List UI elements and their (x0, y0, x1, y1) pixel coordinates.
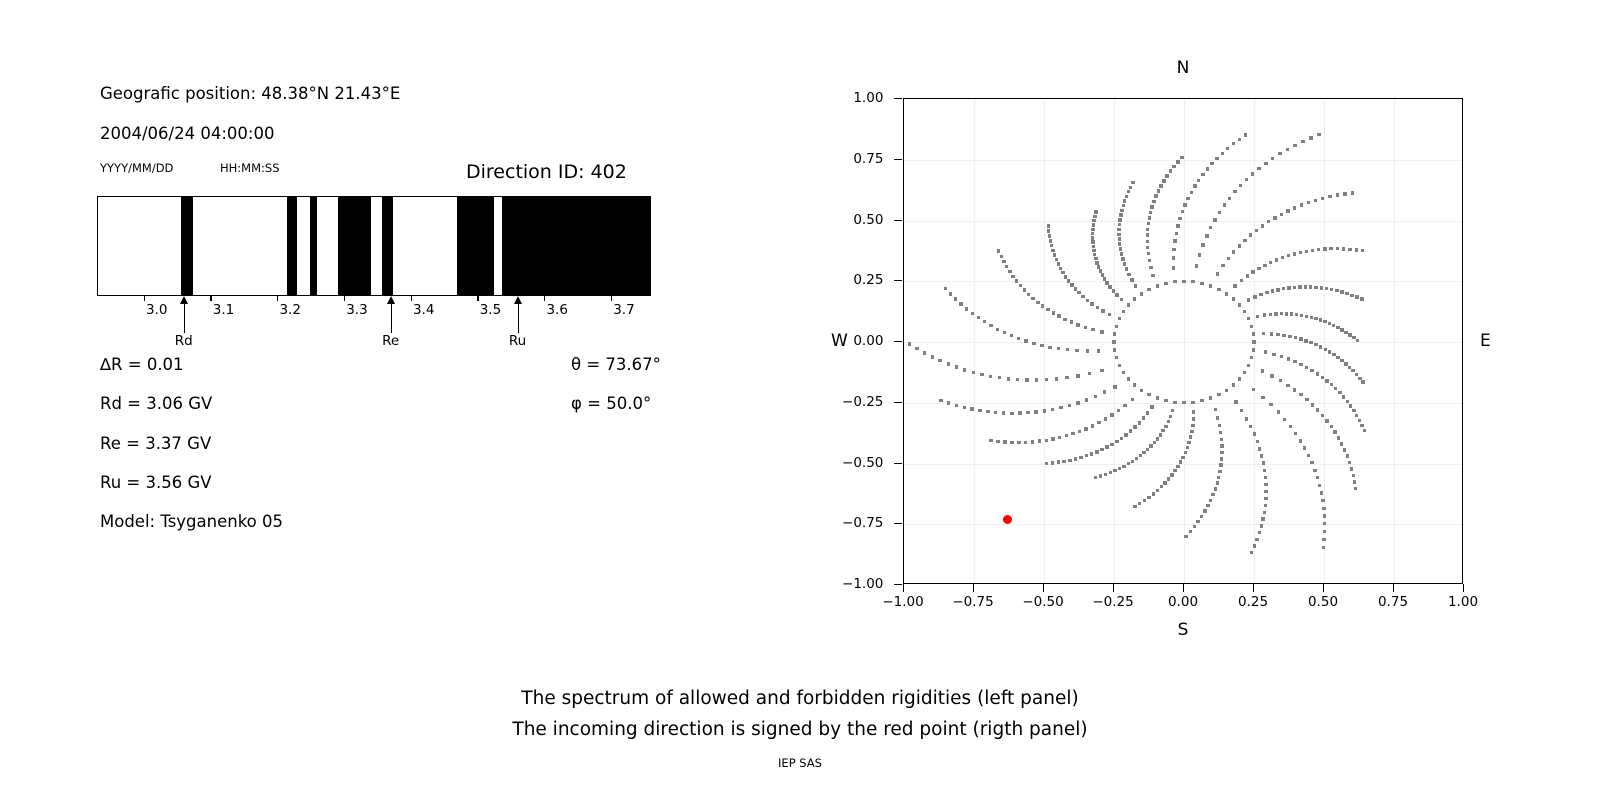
ray-point (1244, 133, 1247, 136)
ray-point (1314, 317, 1317, 320)
ray-point (970, 407, 973, 410)
inner-ring-point (1115, 325, 1118, 328)
ray-point (1209, 284, 1212, 287)
ray-point (1173, 401, 1176, 404)
ray-point (1115, 440, 1118, 443)
y-axis-tick-label: −1.00 (842, 576, 883, 592)
rigidity-spectrum-chart (97, 196, 651, 296)
ray-point (1121, 257, 1124, 260)
ray-point (908, 342, 911, 345)
ray-point (1104, 417, 1107, 420)
ray-point (1100, 448, 1103, 451)
ray-point (1294, 432, 1297, 435)
ray-point (1003, 440, 1006, 443)
ray-point (1352, 474, 1355, 477)
ray-point (1209, 499, 1212, 502)
ray-point (1074, 287, 1077, 290)
inner-ring-point (1252, 340, 1255, 343)
ray-point (1075, 349, 1078, 352)
ray-point (1189, 530, 1192, 533)
ray-point (1247, 298, 1250, 301)
ray-point (1270, 374, 1273, 377)
gridline-vertical (1184, 99, 1185, 583)
ray-point (1301, 140, 1304, 143)
ray-point (1233, 190, 1236, 193)
ray-point (1264, 497, 1267, 500)
ray-point (1064, 275, 1067, 278)
ray-point (1048, 346, 1051, 349)
inner-ring-point (1133, 297, 1136, 300)
y-axis-tick-label: −0.75 (842, 515, 883, 531)
ray-point (1096, 306, 1099, 309)
ray-point (1097, 349, 1100, 352)
ray-point (1299, 363, 1302, 366)
param-rd: Rd = 3.06 GV (100, 394, 212, 413)
ray-point (1354, 487, 1357, 490)
ray-point (1091, 236, 1094, 239)
ray-point (1173, 239, 1176, 242)
ray-point (971, 312, 974, 315)
ray-point (1300, 203, 1303, 206)
ray-point (938, 359, 941, 362)
ray-point (1249, 233, 1252, 236)
ray-point (963, 368, 966, 371)
arrow-up-icon (514, 296, 522, 304)
ray-point (1289, 425, 1292, 428)
footer-attribution: IEP SAS (0, 756, 1600, 770)
ray-point (1052, 311, 1055, 314)
ray-point (1350, 467, 1353, 470)
ray-point (1247, 317, 1250, 320)
ray-point (1216, 416, 1219, 419)
ray-point (1345, 292, 1348, 295)
ray-point (1057, 460, 1060, 463)
ray-point (1091, 232, 1094, 235)
ray-point (1050, 244, 1053, 247)
ray-point (1146, 448, 1149, 451)
ray-point (1092, 249, 1095, 252)
ray-point (1346, 454, 1349, 457)
ray-point (1283, 418, 1286, 421)
ray-point (1214, 408, 1217, 411)
ray-point (1036, 301, 1039, 304)
ray-point (1148, 259, 1151, 262)
ray-point (980, 373, 983, 376)
ray-point (1010, 334, 1013, 337)
ray-point (1269, 313, 1272, 316)
ray-point (1011, 275, 1014, 278)
inner-ring-point (1200, 282, 1203, 285)
ray-point (1146, 411, 1149, 414)
ray-point (1258, 447, 1261, 450)
ray-point (955, 365, 958, 368)
ray-point (1324, 348, 1327, 351)
ray-point (1110, 443, 1113, 446)
ray-point (1176, 465, 1179, 468)
ray-point (996, 328, 999, 331)
ray-point (1316, 408, 1319, 411)
ray-point (965, 307, 968, 310)
ray-point (978, 409, 981, 412)
ray-point (1156, 396, 1159, 399)
ray-point (1068, 459, 1071, 462)
ray-point (1348, 461, 1351, 464)
ray-point (1086, 299, 1089, 302)
ray-point (1238, 244, 1241, 247)
ray-point (1159, 433, 1162, 436)
ray-point (1340, 442, 1343, 445)
inner-ring-point (1217, 393, 1220, 396)
x-axis-tick (903, 584, 904, 592)
ray-point (1108, 313, 1111, 316)
rigidity-tick-label: 3.2 (279, 302, 300, 318)
ray-point (989, 324, 992, 327)
ray-point (1134, 284, 1137, 287)
ray-point (1206, 504, 1209, 507)
ray-point (1309, 136, 1312, 139)
ray-point (1147, 252, 1150, 255)
ray-point (1313, 469, 1316, 472)
ray-point (1220, 457, 1223, 460)
caption-line-2: The incoming direction is signed by the … (0, 719, 1600, 740)
ray-point (1323, 522, 1326, 525)
y-axis-tick (894, 280, 902, 281)
ray-point (1142, 416, 1145, 419)
ray-point (1330, 425, 1333, 428)
ray-point (1152, 492, 1155, 495)
ray-point (1154, 194, 1157, 197)
ray-point (1140, 292, 1143, 295)
compass-label-south: S (1178, 620, 1189, 640)
ray-point (1227, 257, 1230, 260)
ray-point (1133, 505, 1136, 508)
ray-point (1184, 535, 1187, 538)
ray-point (1343, 192, 1346, 195)
ray-point (1090, 302, 1093, 305)
rigidity-tick (144, 296, 145, 301)
ray-point (1255, 229, 1258, 232)
ray-point (1169, 415, 1172, 418)
ray-point (1123, 262, 1126, 265)
ray-point (1135, 457, 1138, 460)
ray-point (1065, 434, 1068, 437)
ray-point (1099, 269, 1102, 272)
asymptotic-direction-chart: N S W E −1.00−1.00−0.75−0.75−0.50−0.50−0… (903, 98, 1463, 584)
ray-point (1092, 219, 1095, 222)
ray-point (1267, 220, 1270, 223)
ray-point (1287, 254, 1290, 257)
ray-point (1264, 483, 1267, 486)
marker-label: Rd (175, 333, 193, 349)
polar-plot-frame (903, 98, 1463, 584)
ray-point (1140, 389, 1143, 392)
ray-point (1123, 404, 1126, 407)
ray-point (1265, 291, 1268, 294)
ray-point (1150, 405, 1153, 408)
ray-point (1046, 308, 1049, 311)
inner-ring-point (1243, 310, 1246, 313)
ray-point (1276, 288, 1279, 291)
ray-point (996, 440, 999, 443)
ray-point (1047, 229, 1050, 232)
rigidity-tick (210, 296, 211, 301)
ray-point (1293, 388, 1296, 391)
ray-point (1218, 211, 1221, 214)
ray-point (1088, 372, 1091, 375)
ray-point (1293, 360, 1296, 363)
ray-point (1103, 390, 1106, 393)
ray-point (1091, 328, 1094, 331)
marker-label: Ru (509, 333, 526, 349)
ray-point (1282, 287, 1285, 290)
ray-point (1350, 294, 1353, 297)
ray-point (1286, 148, 1289, 151)
ray-point (1162, 179, 1165, 182)
ray-point (1100, 369, 1103, 372)
ray-point (1356, 339, 1359, 342)
ray-point (1122, 204, 1125, 207)
ray-point (1120, 252, 1123, 255)
ray-point (1316, 372, 1319, 375)
ray-point (1221, 152, 1224, 155)
geographic-position: Geografic position: 48.38°N 21.43°E (100, 84, 400, 103)
ray-point (1100, 330, 1103, 333)
rigidity-tick-label: 3.7 (613, 302, 634, 318)
ray-point (1321, 414, 1324, 417)
ray-point (1045, 439, 1048, 442)
ray-point (1346, 400, 1349, 403)
ray-point (1197, 179, 1200, 182)
ray-point (1328, 195, 1331, 198)
ray-point (1310, 369, 1313, 372)
ray-point (1113, 348, 1116, 351)
rigidity-tick-label: 3.6 (546, 302, 567, 318)
ray-point (1097, 421, 1100, 424)
ray-point (955, 404, 958, 407)
x-axis-tick-label: −0.75 (952, 594, 993, 610)
ray-point (1309, 285, 1312, 288)
ray-point (1298, 285, 1301, 288)
ray-point (1095, 450, 1098, 453)
inner-ring-point (1164, 399, 1167, 402)
ray-point (1295, 313, 1298, 316)
x-axis-tick (1183, 584, 1184, 592)
ray-point (1262, 461, 1265, 464)
gridline-vertical (1324, 99, 1325, 583)
ray-point (1332, 353, 1335, 356)
ray-point (1219, 431, 1222, 434)
ray-point (1176, 224, 1179, 227)
ray-point (1091, 240, 1094, 243)
y-axis-tick-label: −0.25 (842, 394, 883, 410)
ray-point (1094, 257, 1097, 260)
ray-point (1323, 530, 1326, 533)
ray-point (1193, 525, 1196, 528)
ray-point (1187, 441, 1190, 444)
ray-point (1232, 250, 1235, 253)
x-axis-tick-label: 0.50 (1308, 594, 1338, 610)
ray-point (1203, 509, 1206, 512)
ray-point (915, 347, 918, 350)
ray-point (1299, 251, 1302, 254)
ray-point (1342, 247, 1345, 250)
ray-point (1151, 274, 1154, 277)
ray-point (1343, 448, 1346, 451)
ray-point (1172, 256, 1175, 259)
rigidity-tick (344, 296, 345, 301)
ray-point (1119, 247, 1122, 250)
ray-point (1264, 162, 1267, 165)
ray-point (1321, 376, 1324, 379)
ray-point (1149, 266, 1152, 269)
ray-point (1093, 215, 1096, 218)
ray-point (1209, 396, 1212, 399)
datetime-value: 2004/06/24 04:00:00 (100, 124, 274, 143)
ray-point (1146, 246, 1149, 249)
inner-ring-point (1250, 356, 1253, 359)
forbidden-band (338, 197, 371, 295)
ray-point (1262, 332, 1265, 335)
ray-point (1099, 474, 1102, 477)
ray-point (1017, 441, 1020, 444)
ray-point (1159, 184, 1162, 187)
ray-point (1051, 461, 1054, 464)
ray-point (1252, 348, 1255, 351)
compass-label-west: W (831, 331, 848, 351)
ray-point (1293, 286, 1296, 289)
ray-point (1090, 452, 1093, 455)
ray-point (1010, 412, 1013, 415)
rigidity-tick (411, 296, 412, 301)
ray-point (1243, 239, 1246, 242)
ray-point (1086, 349, 1089, 352)
ray-point (1299, 393, 1302, 396)
ray-point (1293, 144, 1296, 147)
ray-point (1181, 210, 1184, 213)
ray-point (1263, 313, 1266, 316)
ray-point (1314, 286, 1317, 289)
ray-point (1256, 440, 1259, 443)
ray-point (1325, 419, 1328, 422)
ray-point (1076, 374, 1079, 377)
ray-point (1261, 517, 1264, 520)
ray-point (994, 411, 997, 414)
caption-line-1: The spectrum of allowed and forbidden ri… (0, 688, 1600, 709)
ray-point (1034, 410, 1037, 413)
ray-point (1113, 385, 1116, 388)
ray-point (1117, 409, 1120, 412)
ray-point (1003, 331, 1006, 334)
ray-point (1219, 463, 1222, 466)
ray-point (1152, 200, 1155, 203)
ray-point (1008, 270, 1011, 273)
gridline-horizontal (904, 342, 1462, 343)
ray-point (1040, 344, 1043, 347)
ray-point (1221, 264, 1224, 267)
ray-point (1192, 410, 1195, 413)
ray-point (1127, 190, 1130, 193)
x-axis-tick-label: 0.75 (1378, 594, 1408, 610)
ray-point (1053, 253, 1056, 256)
gridline-vertical (974, 99, 975, 583)
x-axis-tick-label: 1.00 (1448, 594, 1478, 610)
ray-point (997, 249, 1000, 252)
ray-point (1118, 242, 1121, 245)
ray-point (1220, 444, 1223, 447)
ray-point (1081, 295, 1084, 298)
rigidity-tick (277, 296, 278, 301)
ray-point (1051, 408, 1054, 411)
ray-point (1127, 462, 1130, 465)
ray-point (1307, 201, 1310, 204)
ray-point (1264, 504, 1267, 507)
ray-point (989, 439, 992, 442)
ray-point (1335, 289, 1338, 292)
y-axis-tick-label: −0.50 (842, 455, 883, 471)
y-axis-tick-label: 0.00 (853, 333, 883, 349)
ray-point (1316, 476, 1319, 479)
ray-point (983, 320, 986, 323)
ray-point (1138, 421, 1141, 424)
ray-point (1127, 303, 1130, 306)
ray-point (1043, 409, 1046, 412)
ray-point (1322, 546, 1325, 549)
inner-ring-point (1243, 371, 1246, 374)
time-format-hint: HH:MM:SS (220, 161, 280, 175)
ray-point (1101, 273, 1104, 276)
ray-point (1191, 280, 1194, 283)
ray-point (1198, 253, 1201, 256)
x-axis-tick (1253, 584, 1254, 592)
ray-point (1232, 142, 1235, 145)
gridline-horizontal (904, 464, 1462, 465)
ray-point (1142, 451, 1145, 454)
inner-ring-point (1217, 288, 1220, 291)
ray-point (1176, 160, 1179, 163)
ray-point (963, 406, 966, 409)
ray-point (1059, 267, 1062, 270)
ray-point (1002, 260, 1005, 263)
param-delta-r: ∆R = 0.01 (100, 355, 184, 374)
ray-point (1010, 441, 1013, 444)
ray-point (1238, 138, 1241, 141)
ray-point (1294, 336, 1297, 339)
ray-point (1329, 247, 1332, 250)
ray-point (1160, 485, 1163, 488)
ray-point (1031, 440, 1034, 443)
ray-point (1256, 315, 1259, 318)
ray-point (1336, 356, 1339, 359)
ray-point (1032, 342, 1035, 345)
ray-point (1285, 312, 1288, 315)
ray-point (1048, 234, 1051, 237)
ray-point (1310, 316, 1313, 319)
ray-point (1320, 286, 1323, 289)
ray-point (1305, 250, 1308, 253)
ray-point (1272, 353, 1275, 356)
ray-point (1066, 348, 1069, 351)
ray-point (977, 316, 980, 319)
ray-point (1228, 197, 1231, 200)
ray-point (1300, 314, 1303, 317)
ray-point (1172, 248, 1175, 251)
ray-point (1353, 480, 1356, 483)
ray-point (1095, 261, 1098, 264)
ray-point (1277, 410, 1280, 413)
param-model: Model: Tsyganenko 05 (100, 512, 283, 531)
inner-ring-point (1182, 401, 1185, 404)
ray-point (1233, 284, 1236, 287)
